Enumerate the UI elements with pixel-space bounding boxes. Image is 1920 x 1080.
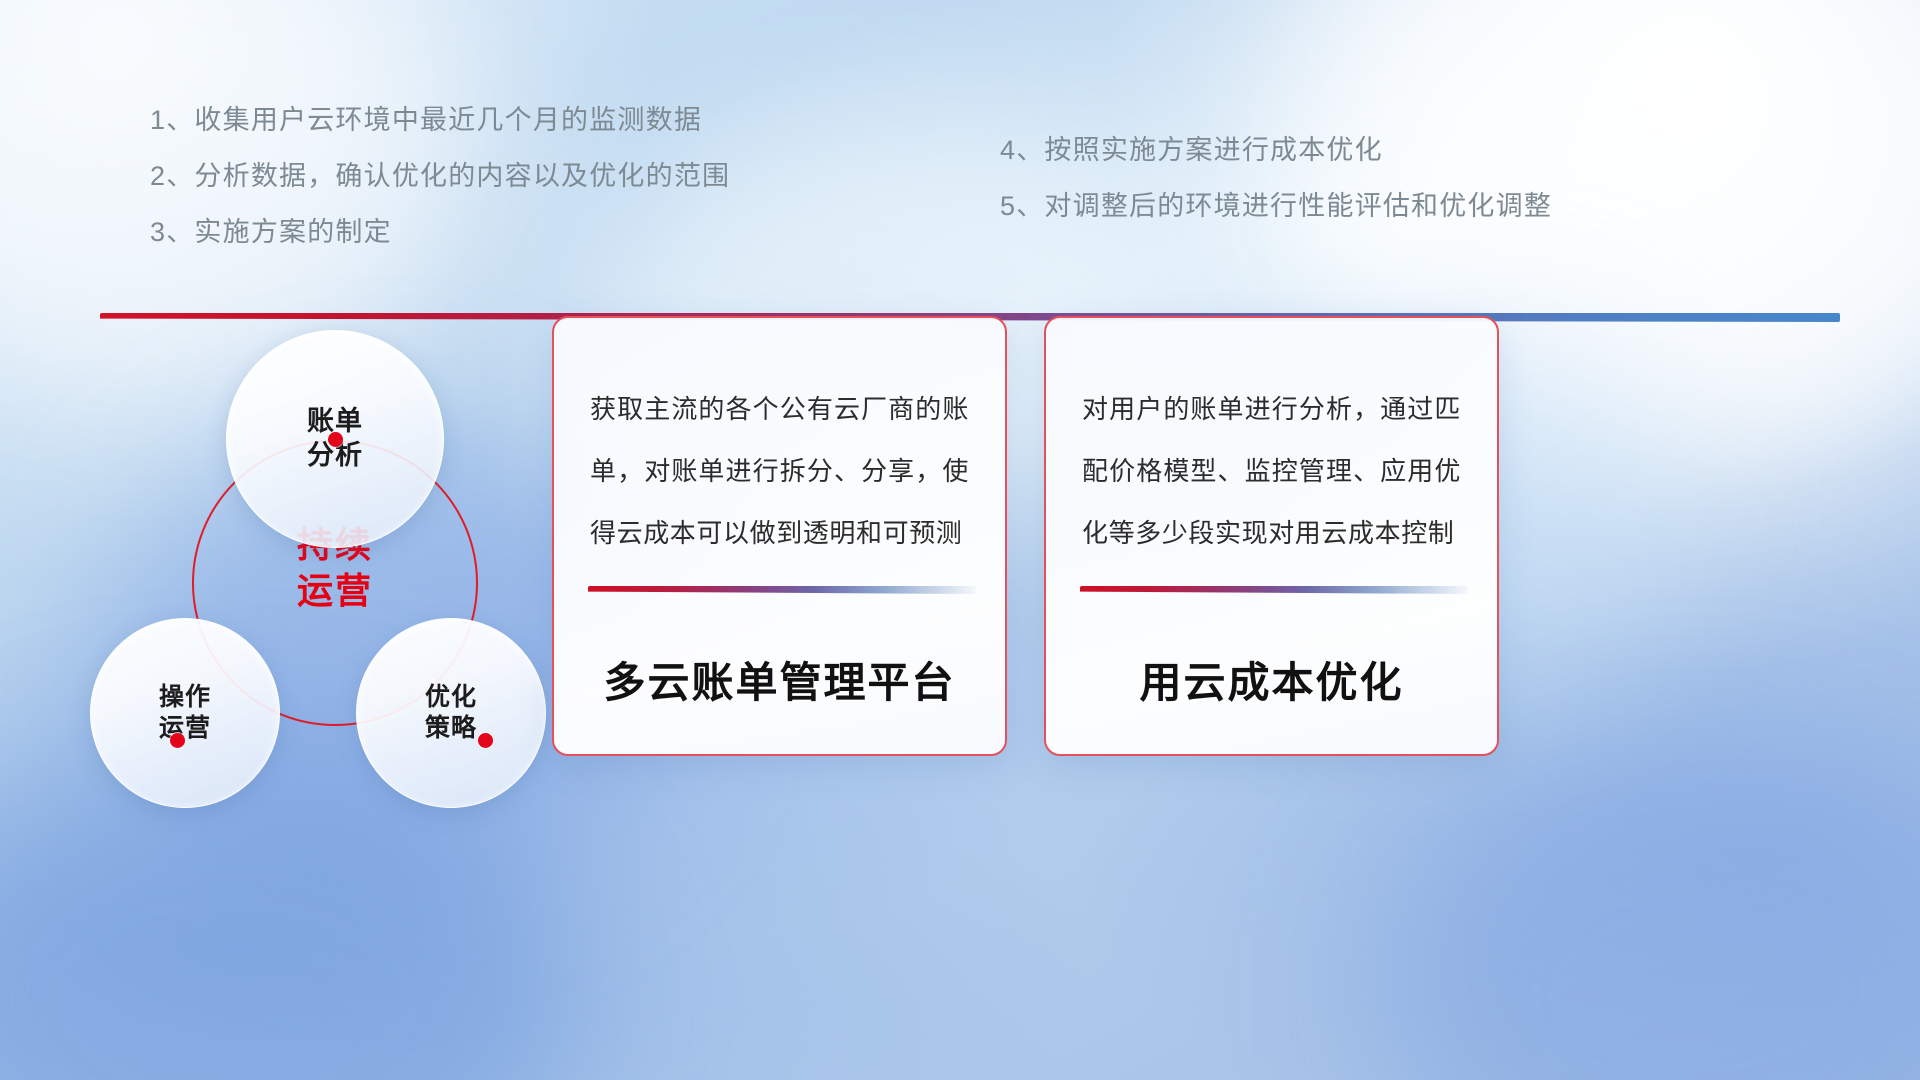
venn-bubble-label-line2: 策略 [425,713,477,744]
step-item-3: 3、实施方案的制定 [150,204,730,260]
card-gradient-bar [588,586,976,594]
card-gradient-bar [1080,586,1468,594]
slide-canvas: 1、收集用户云环境中最近几个月的监测数据 2、分析数据，确认优化的内容以及优化的… [0,0,1920,1080]
step-item-5: 5、对调整后的环境进行性能评估和优化调整 [1000,178,1552,234]
step-item-2: 2、分析数据，确认优化的内容以及优化的范围 [150,148,730,204]
background-glow-bottom-right [1380,750,1920,1080]
venn-bubble-label-line1: 操作 [159,682,211,713]
venn-bubble-operations[interactable]: 操作 运营 [90,618,280,808]
card-body-text: 获取主流的各个公有云厂商的账单，对账单进行拆分、分享，使得云成本可以做到透明和可… [590,378,969,564]
step-item-1: 1、收集用户云环境中最近几个月的监测数据 [150,92,730,148]
card-title: 用云成本优化 [1046,649,1497,710]
steps-list: 1、收集用户云环境中最近几个月的监测数据 2、分析数据，确认优化的内容以及优化的… [0,0,1920,250]
card-title: 多云账单管理平台 [554,649,1005,710]
steps-left-column: 1、收集用户云环境中最近几个月的监测数据 2、分析数据，确认优化的内容以及优化的… [150,92,730,260]
venn-bubble-optimization-strategy[interactable]: 优化 策略 [356,618,546,808]
venn-bubble-label-line1: 优化 [425,682,477,713]
venn-bubble-label: 操作 运营 [159,682,211,745]
venn-bubble-label: 优化 策略 [425,682,477,745]
venn-node-dot-top-icon [328,432,343,447]
card-cloud-cost-optimization[interactable]: 对用户的账单进行分析，通过匹配价格模型、监控管理、应用优化等多少段实现对用云成本… [1044,316,1499,756]
card-multi-cloud-billing-platform[interactable]: 获取主流的各个公有云厂商的账单，对账单进行拆分、分享，使得云成本可以做到透明和可… [552,316,1007,756]
venn-node-dot-left-icon [170,733,185,748]
venn-diagram: 持续 运营 账单 分析 操作 运营 优化 策略 [80,350,560,950]
card-body-text: 对用户的账单进行分析，通过匹配价格模型、监控管理、应用优化等多少段实现对用云成本… [1082,378,1461,564]
venn-center-label-line2: 运营 [192,568,478,614]
steps-right-column: 4、按照实施方案进行成本优化 5、对调整后的环境进行性能评估和优化调整 [1000,122,1552,234]
step-item-4: 4、按照实施方案进行成本优化 [1000,122,1552,178]
venn-node-dot-right-icon [478,733,493,748]
